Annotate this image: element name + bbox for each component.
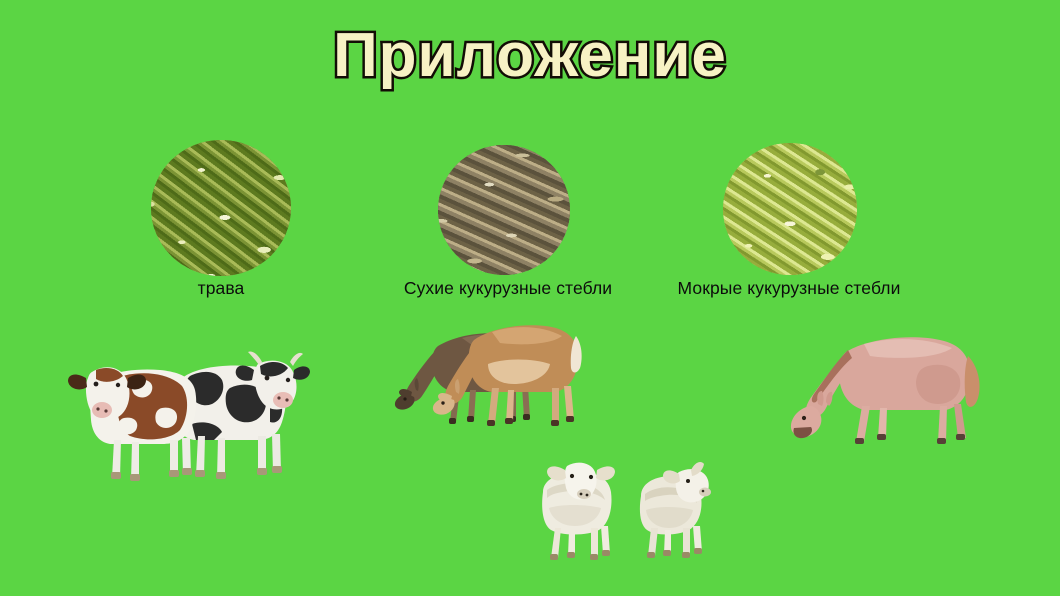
feed-sample-label-wet-corn-stalks: Мокрые кукурузные стебли (649, 278, 929, 299)
slide-canvas: Приложение трава Сухие кукурузные стебли… (0, 0, 1060, 596)
wet-corn-stalks-swatch-icon (723, 143, 857, 275)
grass-swatch-icon (151, 140, 291, 276)
sheep-photo (515, 446, 720, 562)
dry-corn-stalks-swatch-icon (438, 145, 570, 275)
feed-sample-label-grass: трава (121, 278, 321, 299)
horse-photo (788, 326, 988, 448)
deer-photo (392, 310, 597, 428)
feed-sample-label-dry-corn-stalks: Сухие кукурузные стебли (383, 278, 633, 299)
page-title: Приложение (0, 22, 1060, 90)
cows-photo (62, 336, 307, 482)
